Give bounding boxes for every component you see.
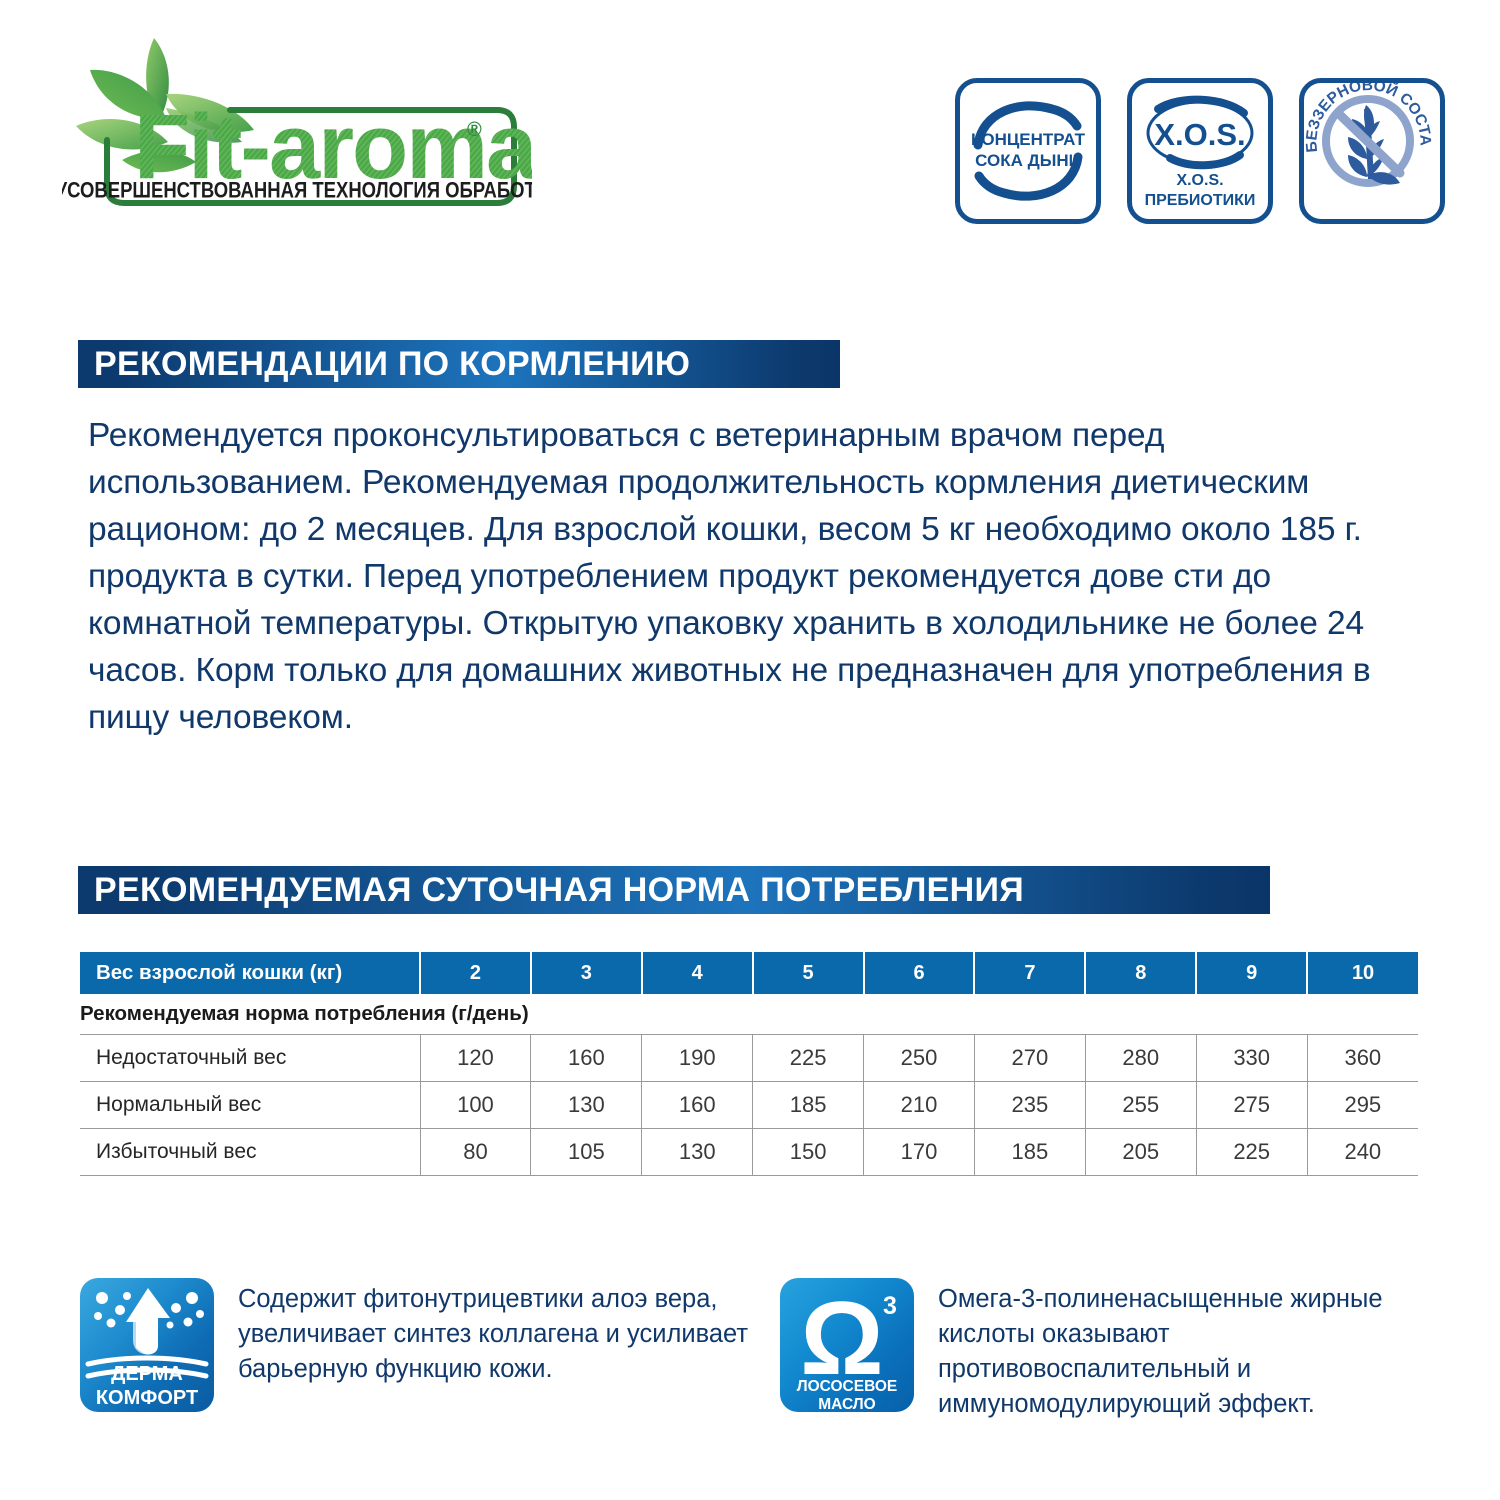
salmon-oil-omega3-icon: Ω 3 ЛОСОСЕВОЕ МАСЛО [780, 1278, 914, 1412]
feature-badges: КОНЦЕНТРАТ СОКА ДЫНИ X.O.S. X.O.S. ПРЕБИ… [955, 78, 1445, 224]
badge-xos-big-text: X.O.S. [1154, 117, 1245, 152]
cell-normal-8: 255 [1085, 1082, 1196, 1129]
row-label-normal: Нормальный вес [80, 1082, 420, 1129]
table-row: Недостаточный вес 120 160 190 225 250 27… [80, 1035, 1418, 1082]
cell-underweight-9: 330 [1196, 1035, 1307, 1082]
fit-aroma-logo-svg: Fit-aroma ® УСОВЕРШЕНСТВОВАННАЯ ТЕХНОЛОГ… [62, 30, 532, 225]
cell-overweight-10: 240 [1307, 1129, 1418, 1176]
cell-overweight-8: 205 [1085, 1129, 1196, 1176]
badge-grain-free: БЕЗЗЕРНОВОЙ СОСТАВ [1299, 78, 1445, 224]
cell-overweight-5: 150 [753, 1129, 864, 1176]
badge-melon-juice-concentrate: КОНЦЕНТРАТ СОКА ДЫНИ [955, 78, 1101, 224]
header-area: Fit-aroma ® УСОВЕРШЕНСТВОВАННАЯ ТЕХНОЛОГ… [0, 0, 1500, 290]
salmon-oil-caption: ЛОСОСЕВОЕ МАСЛО [780, 1378, 914, 1412]
cell-normal-10: 295 [1307, 1082, 1418, 1129]
table-subheader-row: Рекомендуемая норма потребления (г/день) [80, 994, 1418, 1035]
cell-underweight-3: 160 [531, 1035, 642, 1082]
table-header-weight-4: 4 [642, 952, 753, 994]
badge-melon-line2: СОКА ДЫНИ [960, 150, 1096, 171]
daily-norm-header: РЕКОМЕНДУЕМАЯ СУТОЧНАЯ НОРМА ПОТРЕБЛЕНИЯ [78, 866, 1270, 914]
row-label-overweight: Избыточный вес [80, 1129, 420, 1176]
table-header-row: Вес взрослой кошки (кг) 2 3 4 5 6 7 8 9 … [80, 952, 1418, 994]
feature-salmon-oil: Ω 3 ЛОСОСЕВОЕ МАСЛО Омега-3-полиненасыще… [780, 1278, 1420, 1422]
badge-xos-prebiotics: X.O.S. X.O.S. ПРЕБИОТИКИ [1127, 78, 1273, 224]
table-header-weight-5: 5 [753, 952, 864, 994]
grain-free-icon: БЕЗЗЕРНОВОЙ СОСТАВ [1304, 83, 1440, 219]
daily-norm-title: РЕКОМЕНДУЕМАЯ СУТОЧНАЯ НОРМА ПОТРЕБЛЕНИЯ [78, 871, 1024, 910]
cell-overweight-4: 130 [642, 1129, 753, 1176]
omega-superscript-3: 3 [883, 1292, 897, 1320]
feeding-recommendations-header: РЕКОМЕНДАЦИИ ПО КОРМЛЕНИЮ [78, 340, 840, 388]
feeding-recommendations-title: РЕКОМЕНДАЦИИ ПО КОРМЛЕНИЮ [78, 345, 690, 384]
cell-overweight-7: 185 [974, 1129, 1085, 1176]
daily-norm-table: Вес взрослой кошки (кг) 2 3 4 5 6 7 8 9 … [80, 952, 1418, 1176]
table-header-weight-7: 7 [974, 952, 1085, 994]
badge-xos-line2: ПРЕБИОТИКИ [1132, 191, 1268, 211]
logo-tagline: УСОВЕРШЕНСТВОВАННАЯ ТЕХНОЛОГИЯ ОБРАБОТКИ [62, 179, 532, 203]
cell-overweight-2: 80 [420, 1129, 531, 1176]
table-subheader-label: Рекомендуемая норма потребления (г/день) [80, 994, 1418, 1035]
derma-comfort-icon: ДЕРМА КОМФОРТ [80, 1278, 214, 1412]
feature-salmon-oil-text: Омега-3-полиненасыщенные жирные кислоты … [914, 1278, 1420, 1422]
cell-overweight-9: 225 [1196, 1129, 1307, 1176]
cell-underweight-2: 120 [420, 1035, 531, 1082]
derma-comfort-caption-line1: ДЕРМА [80, 1362, 214, 1386]
cell-underweight-7: 270 [974, 1035, 1085, 1082]
table-header-weight-8: 8 [1085, 952, 1196, 994]
cell-underweight-8: 280 [1085, 1035, 1196, 1082]
cell-overweight-3: 105 [531, 1129, 642, 1176]
table-header-weight-6: 6 [864, 952, 975, 994]
derma-comfort-caption-line2: КОМФОРТ [80, 1386, 214, 1410]
feature-list: ДЕРМА КОМФОРТ Содержит фитонутрицевтики … [80, 1278, 1420, 1422]
table-header-weight-3: 3 [531, 952, 642, 994]
feature-derma-comfort-text: Содержит фитонутрицевтики алоэ вера, уве… [214, 1278, 780, 1387]
cell-underweight-5: 225 [753, 1035, 864, 1082]
table-header-weight-9: 9 [1196, 952, 1307, 994]
cell-normal-9: 275 [1196, 1082, 1307, 1129]
cell-normal-3: 130 [531, 1082, 642, 1129]
cell-overweight-6: 170 [864, 1129, 975, 1176]
feature-derma-comfort: ДЕРМА КОМФОРТ Содержит фитонутрицевтики … [80, 1278, 780, 1422]
table-header-weight-2: 2 [420, 952, 531, 994]
cell-normal-2: 100 [420, 1082, 531, 1129]
cell-normal-5: 185 [753, 1082, 864, 1129]
daily-norm-table-wrap: Вес взрослой кошки (кг) 2 3 4 5 6 7 8 9 … [80, 952, 1418, 1176]
cell-underweight-10: 360 [1307, 1035, 1418, 1082]
badge-melon-line1: КОНЦЕНТРАТ [960, 129, 1096, 150]
cell-normal-6: 210 [864, 1082, 975, 1129]
table-row: Нормальный вес 100 130 160 185 210 235 2… [80, 1082, 1418, 1129]
badge-xos-line1: X.O.S. [1132, 171, 1268, 191]
cell-underweight-6: 250 [864, 1035, 975, 1082]
brand-logo: Fit-aroma ® УСОВЕРШЕНСТВОВАННАЯ ТЕХНОЛОГ… [62, 30, 532, 225]
table-header-label: Вес взрослой кошки (кг) [80, 952, 420, 994]
table-header-weight-10: 10 [1307, 952, 1418, 994]
feeding-recommendations-body: Рекомендуется проконсультироваться с вет… [88, 412, 1424, 741]
row-label-underweight: Недостаточный вес [80, 1035, 420, 1082]
logo-registered-mark: ® [467, 119, 482, 141]
cell-underweight-4: 190 [642, 1035, 753, 1082]
table-row: Избыточный вес 80 105 130 150 170 185 20… [80, 1129, 1418, 1176]
cell-normal-7: 235 [974, 1082, 1085, 1129]
cell-normal-4: 160 [642, 1082, 753, 1129]
